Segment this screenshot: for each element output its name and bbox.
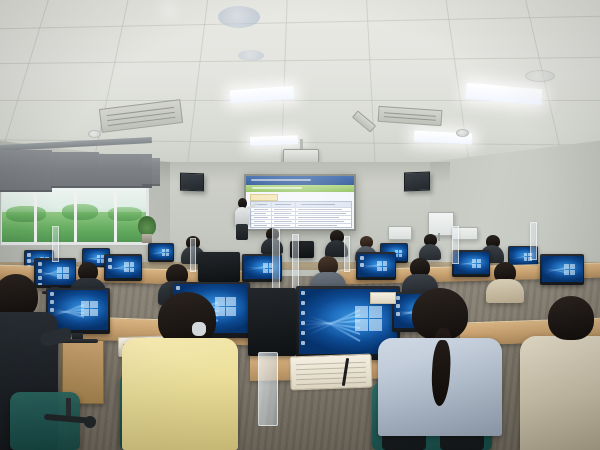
potted-plant [138,216,156,236]
whiteboard-leg [438,233,440,241]
acrylic-divider [52,226,59,262]
windows-logo-icon [81,301,99,317]
monitor [356,252,396,280]
ceiling-speaker-icon [238,50,264,61]
windows-logo-icon [124,262,135,272]
windows-logo-icon [162,249,170,256]
monitor-screen [36,260,75,286]
student-torso [486,279,524,303]
ceiling-speaker-icon [218,6,260,28]
whiteboard-panel [388,226,412,240]
monitor-screen [106,256,141,279]
acrylic-divider [530,222,537,260]
window-foliage [6,206,46,222]
acrylic-divider [452,226,459,264]
window-blind [142,158,160,186]
instructor-legs [236,224,248,240]
windows-logo-icon [215,297,237,317]
window-blind [51,152,99,188]
classroom-photo [0,0,600,450]
acrylic-divider [344,236,350,272]
window-blind [0,150,52,192]
wall-speaker-left [180,173,204,192]
windows-logo-icon [57,267,70,279]
plant-pot [142,234,152,243]
monitor [540,254,584,285]
acrylic-divider [190,238,196,272]
window-mullion [74,188,77,242]
whiteboard [428,212,454,236]
led-panel-light [250,135,298,146]
screen-glow [240,170,360,234]
chair-caster [84,416,96,428]
paper-stack [370,292,396,304]
windows-logo-icon [564,264,576,275]
wall-speaker-right [404,172,430,192]
smoke-detector-icon [88,130,101,138]
face-mask [192,322,206,336]
monitor-screen [542,256,583,283]
windows-logo-icon [355,306,383,332]
monitor-rear [198,252,240,282]
smoke-detector-icon [456,129,469,137]
instructor [232,198,254,240]
monitor [34,258,76,288]
monitor-screen [149,244,173,260]
led-panel-light [168,9,169,10]
monitor-screen [358,254,395,278]
monitor [148,243,174,262]
smoke-detector-icon [525,70,555,82]
open-notebook [289,354,372,391]
water-bottle [258,352,278,426]
student-torso [122,338,238,450]
window-mullion [114,188,117,242]
windows-logo-icon [472,259,482,268]
monitor-rear [248,288,296,356]
window-mullion [34,188,37,242]
student-head [548,296,594,340]
window-foliage [62,204,98,220]
windows-logo-icon [377,261,388,271]
monitor [104,254,142,281]
student-torso [520,336,600,450]
